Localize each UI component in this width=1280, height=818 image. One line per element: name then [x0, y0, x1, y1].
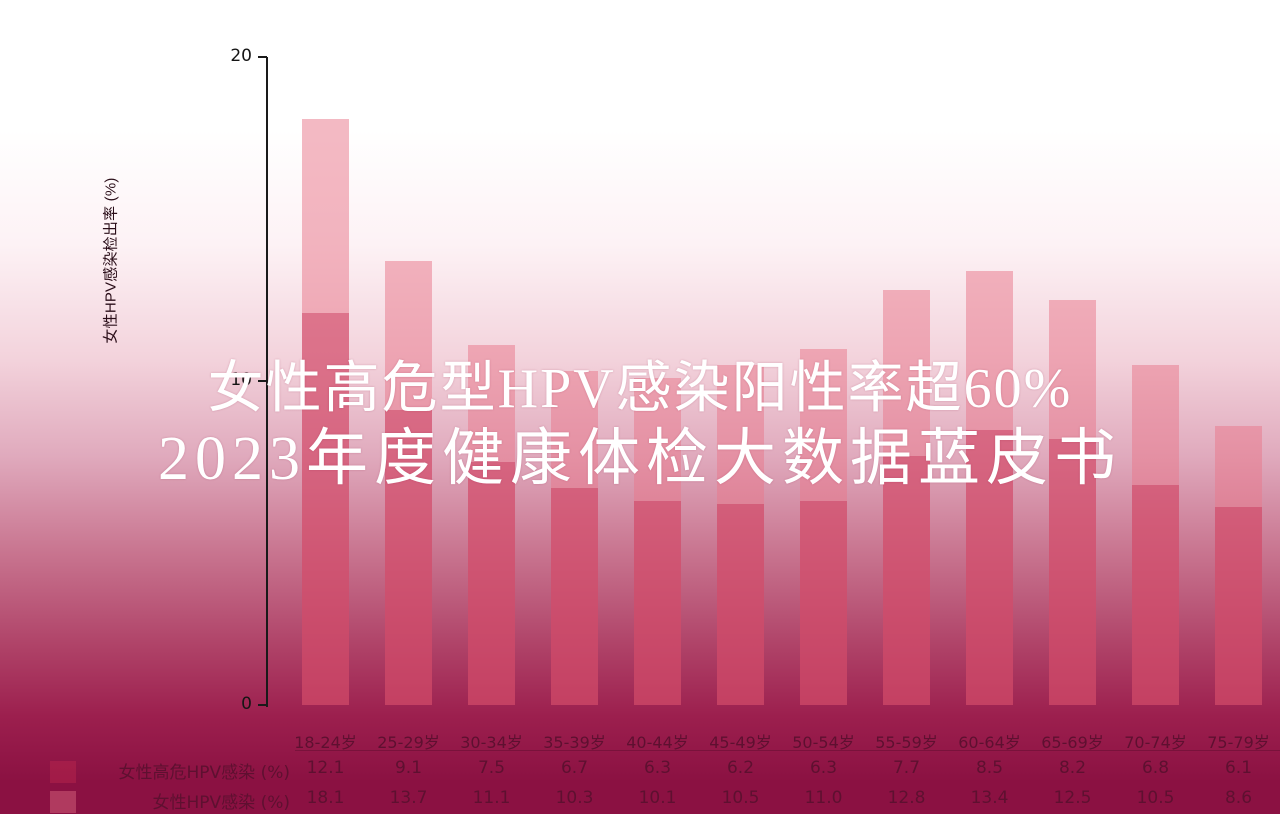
table-cell: 9.1: [368, 758, 450, 778]
table-cell: 13.7: [368, 788, 450, 808]
legend-label-total: 女性HPV感染 (%): [60, 788, 290, 813]
table-cell: 8.6: [1198, 788, 1280, 808]
legend-label-high-risk: 女性高危HPV感染 (%): [60, 758, 290, 783]
table-header-separator: [295, 750, 1280, 751]
table-cell: 8.2: [1032, 758, 1114, 778]
table-cell: 12.8: [866, 788, 948, 808]
table-cell: 18.1: [285, 788, 367, 808]
table-cell: 6.7: [534, 758, 616, 778]
table-cell: 6.8: [1115, 758, 1197, 778]
table-cell: 7.5: [451, 758, 533, 778]
data-table: 女性高危HPV感染 (%)12.19.17.56.76.36.26.37.78.…: [0, 748, 1280, 814]
table-cell: 6.3: [783, 758, 865, 778]
table-cell: 11.1: [451, 788, 533, 808]
table-cell: 7.7: [866, 758, 948, 778]
x-axis-category-labels: 18-24岁25-29岁30-34岁35-39岁40-44岁45-49岁50-5…: [0, 0, 1280, 814]
table-cell: 10.5: [1115, 788, 1197, 808]
table-cell: 11.0: [783, 788, 865, 808]
table-cell: 10.3: [534, 788, 616, 808]
table-row: 女性高危HPV感染 (%)12.19.17.56.76.36.26.37.78.…: [0, 758, 1280, 788]
table-cell: 10.5: [700, 788, 782, 808]
chart-plot-area: 01020 女性HPV感染检出率 (%) 18-24岁25-29岁30-34岁3…: [0, 0, 1280, 814]
table-cell: 12.5: [1032, 788, 1114, 808]
table-cell: 6.2: [700, 758, 782, 778]
table-cell: 13.4: [949, 788, 1031, 808]
table-cell: 8.5: [949, 758, 1031, 778]
table-cell: 10.1: [617, 788, 699, 808]
table-cell: 6.1: [1198, 758, 1280, 778]
table-cell: 6.3: [617, 758, 699, 778]
table-cell: 12.1: [285, 758, 367, 778]
